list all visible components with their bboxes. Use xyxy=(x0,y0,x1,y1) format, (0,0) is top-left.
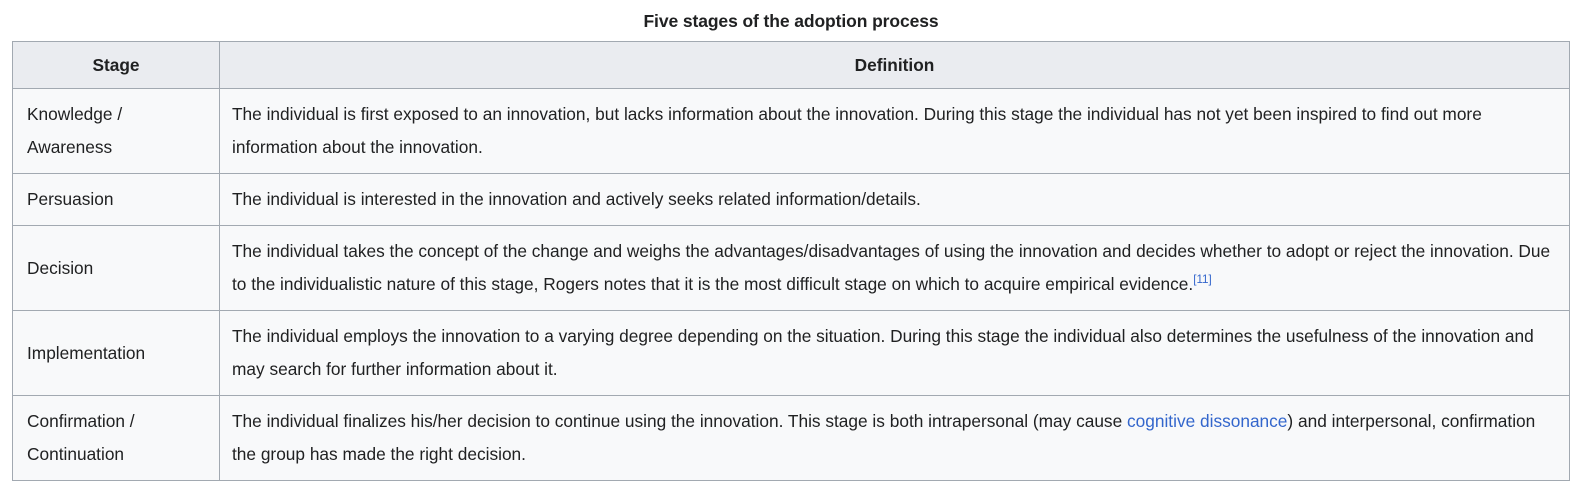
citation-reference[interactable]: [11] xyxy=(1193,273,1211,286)
cell-stage: Knowledge / Awareness xyxy=(13,89,220,174)
cell-definition: The individual employs the innovation to… xyxy=(220,311,1570,396)
cell-stage: Decision xyxy=(13,226,220,311)
five-stages-adoption-table: Stage Definition Knowledge / AwarenessTh… xyxy=(12,41,1570,481)
cell-stage: Implementation xyxy=(13,311,220,396)
definition-text: The individual takes the concept of the … xyxy=(232,241,1550,294)
cell-stage: Confirmation / Continuation xyxy=(13,396,220,481)
definition-link[interactable]: cognitive dissonance xyxy=(1127,411,1287,431)
definition-text: The individual is interested in the inno… xyxy=(232,189,921,209)
cell-definition: The individual takes the concept of the … xyxy=(220,226,1570,311)
definition-text: The individual employs the innovation to… xyxy=(232,326,1534,379)
column-header-definition: Definition xyxy=(220,42,1570,89)
cell-definition: The individual is first exposed to an in… xyxy=(220,89,1570,174)
table-body: Knowledge / AwarenessThe individual is f… xyxy=(13,89,1570,481)
table-caption: Five stages of the adoption process xyxy=(0,0,1582,41)
table-header-row: Stage Definition xyxy=(13,42,1570,89)
table-row: DecisionThe individual takes the concept… xyxy=(13,226,1570,311)
cell-definition: The individual finalizes his/her decisio… xyxy=(220,396,1570,481)
adoption-process-table-page: Five stages of the adoption process Stag… xyxy=(0,0,1582,486)
definition-text: The individual is first exposed to an in… xyxy=(232,104,1482,157)
citation-link[interactable]: [11] xyxy=(1193,273,1211,286)
table-row: Confirmation / ContinuationThe individua… xyxy=(13,396,1570,481)
table-row: PersuasionThe individual is interested i… xyxy=(13,174,1570,226)
table-row: Knowledge / AwarenessThe individual is f… xyxy=(13,89,1570,174)
cell-stage: Persuasion xyxy=(13,174,220,226)
column-header-stage: Stage xyxy=(13,42,220,89)
cell-definition: The individual is interested in the inno… xyxy=(220,174,1570,226)
table-row: ImplementationThe individual employs the… xyxy=(13,311,1570,396)
definition-text: The individual finalizes his/her decisio… xyxy=(232,411,1127,431)
